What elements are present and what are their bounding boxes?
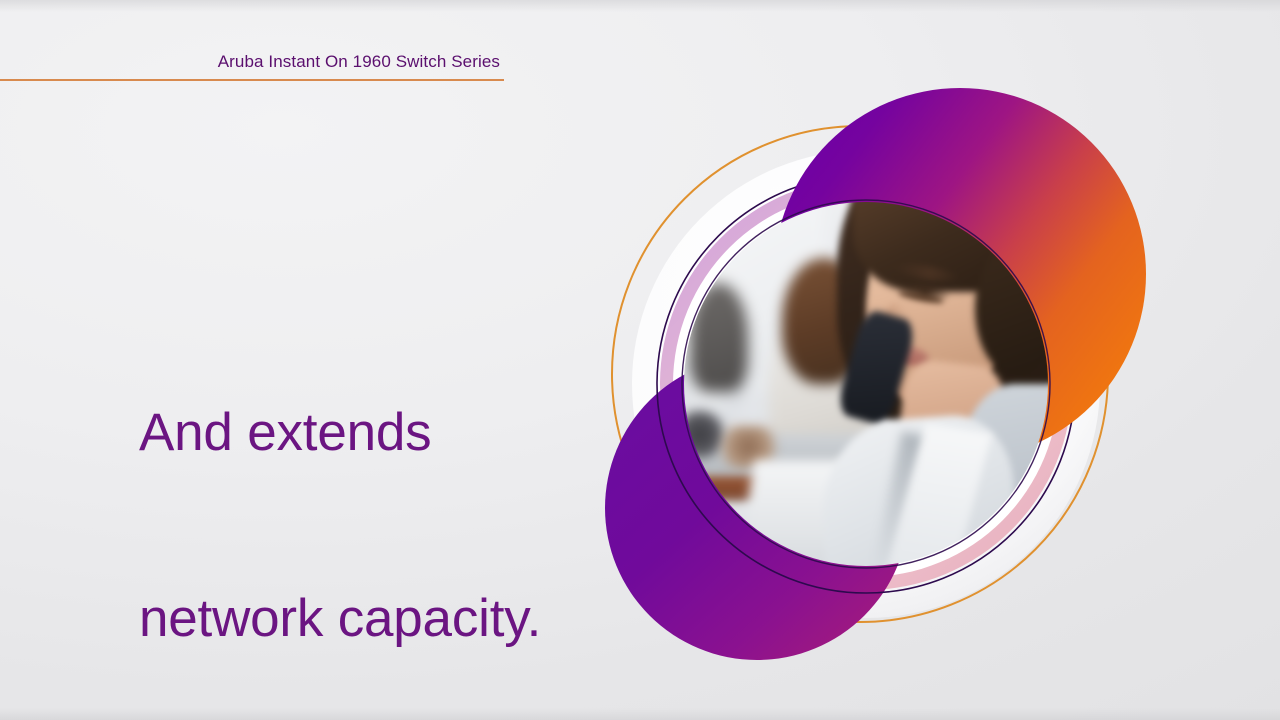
headline-line-2: network capacity. <box>139 588 541 650</box>
slide-header: Aruba Instant On 1960 Switch Series <box>0 52 506 81</box>
header-orange-rule <box>0 79 504 81</box>
product-series-title: Aruba Instant On 1960 Switch Series <box>0 52 506 72</box>
headline: And extends network capacity. <box>139 278 541 720</box>
circles-graphic <box>560 88 1200 668</box>
headline-line-1: And extends <box>139 402 541 464</box>
slide-canvas: Aruba Instant On 1960 Switch Series And … <box>0 0 1280 720</box>
